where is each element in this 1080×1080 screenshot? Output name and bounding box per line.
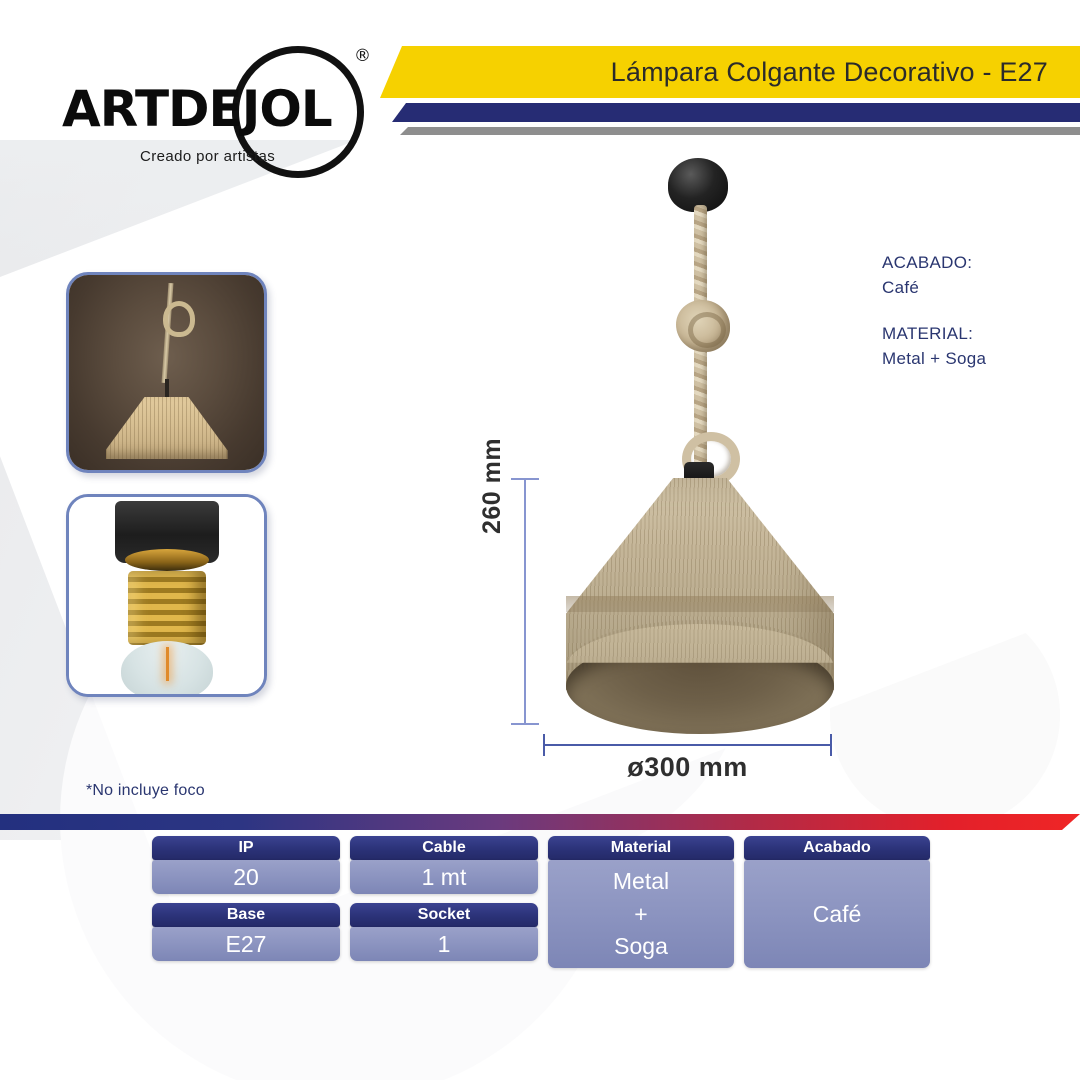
height-dimension-cap-top [511, 478, 539, 480]
table-value-acabado: Café [744, 860, 930, 968]
lamp-shade-band [566, 596, 834, 612]
table-header-material: Material [548, 836, 734, 860]
registered-trademark-icon: ® [354, 46, 371, 66]
specification-table: IP 20 Base E27 Cable 1 mt Socket 1 Mater… [152, 836, 930, 968]
table-value-ip: 20 [152, 860, 340, 894]
header-navy-bar [392, 103, 1080, 122]
material-line-2: + [634, 898, 647, 931]
table-row-spacer [152, 894, 340, 903]
thumbnail-b-socket-ring [125, 549, 209, 571]
table-value-base: E27 [152, 927, 340, 961]
logo-tagline: Creado por artistas [140, 148, 275, 165]
table-row-spacer [350, 894, 538, 903]
attribute-spacer [882, 300, 986, 322]
table-value-socket: 1 [350, 927, 538, 961]
diameter-dimension-label: ø300 mm [543, 752, 832, 783]
thumbnail-a-knot [163, 301, 195, 337]
material-line-3: Soga [614, 930, 668, 963]
height-dimension-cap-bottom [511, 723, 539, 725]
header-gray-bar [400, 127, 1080, 135]
logo-wordmark: ARTDEJOL [62, 84, 362, 134]
ceiling-canopy [668, 158, 728, 212]
height-dimension-label: 260 mm [478, 438, 507, 534]
finish-label: ACABADO: [882, 251, 986, 276]
table-column-cable: Cable 1 mt Socket 1 [350, 836, 538, 961]
product-attributes: ACABADO: Café MATERIAL: Metal + Soga [882, 251, 986, 372]
rope-knot [676, 300, 730, 352]
table-column-ip: IP 20 Base E27 [152, 836, 340, 961]
thumbnail-b-bulb-screw-base [128, 571, 206, 645]
table-column-acabado: Acabado Café [744, 836, 930, 968]
height-dimension-line [524, 478, 526, 725]
table-header-ip: IP [152, 836, 340, 860]
table-header-acabado: Acabado [744, 836, 930, 860]
material-value: Metal + Soga [882, 347, 986, 372]
gradient-divider [0, 814, 1080, 830]
brand-logo: ARTDEJOL ® Creado por artistas [62, 40, 362, 145]
thumbnail-socket-bulb[interactable] [66, 494, 267, 697]
table-header-socket: Socket [350, 903, 538, 927]
table-column-material: Material Metal + Soga [548, 836, 734, 968]
table-header-cable: Cable [350, 836, 538, 860]
table-header-base: Base [152, 903, 340, 927]
header-white-bar [398, 122, 1080, 127]
footnote-no-bulb: *No incluye foco [86, 782, 205, 800]
material-label: MATERIAL: [882, 322, 986, 347]
table-value-material: Metal + Soga [548, 860, 734, 968]
finish-value: Café [882, 276, 986, 301]
table-value-cable: 1 mt [350, 860, 538, 894]
thumbnail-lamp-lifestyle[interactable] [66, 272, 267, 473]
page-title: Lámpara Colgante Decorativo - E27 [380, 46, 1070, 98]
diameter-dimension-line [543, 744, 832, 746]
material-line-1: Metal [613, 865, 669, 898]
acabado-line-1: Café [813, 898, 862, 931]
thumbnail-b-filament [166, 647, 169, 681]
product-spec-sheet: ARTDEJOL ® Creado por artistas Lámpara C… [0, 0, 1080, 1080]
